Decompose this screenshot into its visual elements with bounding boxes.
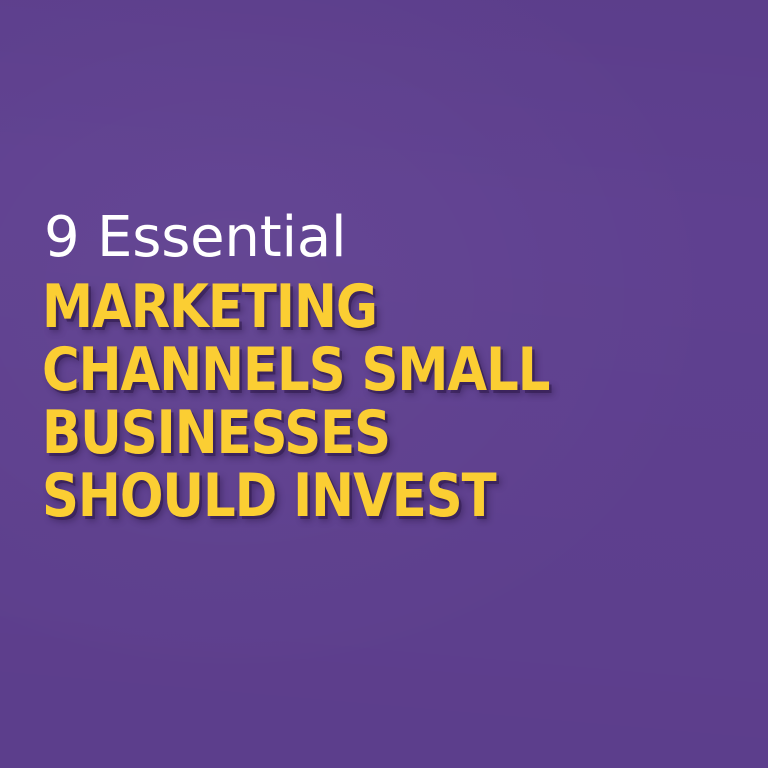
- poster-canvas: 9 Essential MARKETING CHANNELS SMALL BUS…: [0, 0, 768, 768]
- headline-line-4: SHOULD INVEST: [42, 465, 632, 528]
- headline-line-2: CHANNELS SMALL: [42, 339, 632, 402]
- headline-line-1: MARKETING: [42, 276, 632, 339]
- headline-line-3: BUSINESSES: [42, 402, 632, 465]
- eyebrow-text: 9 Essential: [44, 206, 732, 270]
- title-block: 9 Essential MARKETING CHANNELS SMALL BUS…: [42, 206, 732, 528]
- headline: MARKETING CHANNELS SMALL BUSINESSES SHOU…: [42, 276, 732, 528]
